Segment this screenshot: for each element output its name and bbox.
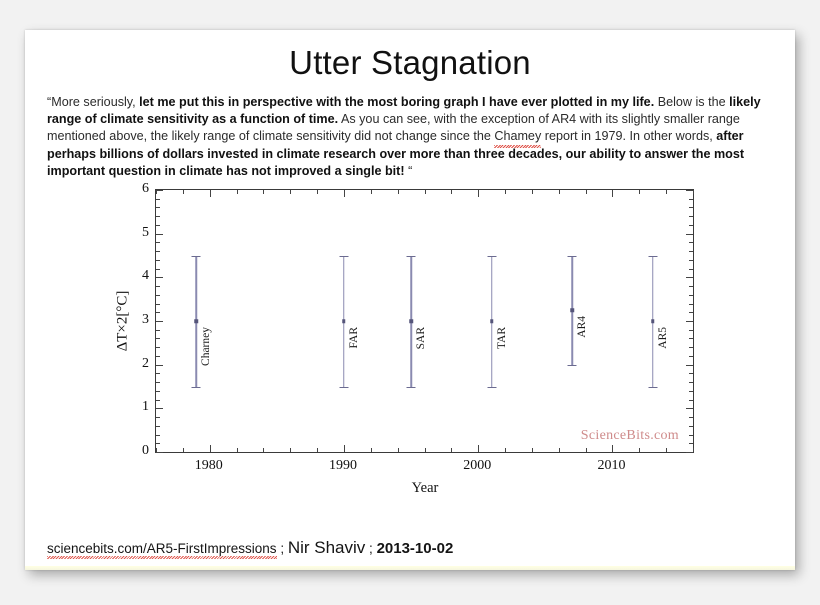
x-tick: [317, 448, 318, 452]
presentation-slide: Utter Stagnation “More seriously, let me…: [25, 30, 795, 570]
y-tick: [689, 338, 693, 339]
quote-segment-2-bold: let me put this in perspective with the …: [139, 95, 654, 109]
error-bar-label: AR4: [576, 316, 588, 338]
y-tick: [686, 277, 693, 278]
error-bar-label: Charney: [200, 327, 212, 366]
y-tick: [156, 338, 160, 339]
error-bar-cap-top: [648, 256, 657, 258]
y-tick: [689, 286, 693, 287]
y-tick: [689, 373, 693, 374]
x-tick: [156, 190, 157, 194]
y-tick: [156, 295, 160, 296]
sciencebits-watermark: ScienceBits.com: [581, 428, 679, 444]
y-tick: [686, 234, 693, 235]
y-tick: [156, 452, 163, 453]
misspelled-word: Chamey: [494, 128, 541, 145]
y-tick: [689, 199, 693, 200]
y-tick: [156, 330, 160, 331]
error-bar: FAR: [329, 190, 359, 452]
x-tick: [532, 190, 533, 194]
y-tick: [156, 408, 163, 409]
x-tick: [237, 190, 238, 194]
y-tick: [689, 391, 693, 392]
y-tick-label: 6: [127, 181, 149, 197]
x-tick: [317, 190, 318, 194]
y-tick: [156, 312, 160, 313]
y-tick-label: 5: [127, 225, 149, 241]
y-tick: [689, 225, 693, 226]
x-tick: [532, 448, 533, 452]
error-bar-cap-bottom: [407, 387, 416, 389]
x-tick-label: 1980: [195, 458, 223, 474]
y-tick: [686, 321, 693, 322]
y-tick: [689, 260, 693, 261]
error-bar: SAR: [396, 190, 426, 452]
y-tick-label: 4: [127, 268, 149, 284]
x-tick: [290, 190, 291, 194]
x-tick: [263, 448, 264, 452]
error-bar-cap-top: [339, 256, 348, 258]
y-tick: [686, 408, 693, 409]
y-tick: [156, 321, 163, 322]
y-tick: [156, 365, 163, 366]
y-tick: [689, 400, 693, 401]
y-tick: [156, 216, 160, 217]
best-estimate-marker: [409, 319, 413, 323]
y-tick: [156, 373, 160, 374]
y-tick: [689, 242, 693, 243]
caption-url[interactable]: sciencebits.com/AR5-FirstImpressions: [47, 541, 277, 556]
y-tick: [689, 382, 693, 383]
x-tick: [451, 448, 452, 452]
error-bar: AR4: [557, 190, 587, 452]
y-tick: [156, 391, 160, 392]
error-bar-cap-top: [487, 256, 496, 258]
x-axis-label: Year: [412, 480, 439, 497]
y-tick: [156, 286, 160, 287]
x-tick: [371, 448, 372, 452]
y-tick: [689, 295, 693, 296]
caption-author: Nir Shaviv: [288, 538, 365, 557]
x-tick: [290, 448, 291, 452]
source-caption: sciencebits.com/AR5-FirstImpressions ; N…: [47, 538, 453, 558]
y-tick: [689, 312, 693, 313]
best-estimate-marker: [195, 319, 199, 323]
y-tick: [156, 260, 160, 261]
y-tick-label: 1: [127, 399, 149, 415]
x-tick: [693, 448, 694, 452]
y-tick: [689, 347, 693, 348]
error-bar-label: AR5: [657, 327, 669, 349]
y-tick-label: 3: [127, 312, 149, 328]
error-bar-cap-bottom: [568, 365, 577, 367]
y-tick: [689, 435, 693, 436]
best-estimate-marker: [490, 319, 494, 323]
plot-area: CharneyFARSARTARAR4AR5 ScienceBits.com: [155, 189, 694, 453]
x-tick-label: 2000: [463, 458, 491, 474]
y-tick: [689, 443, 693, 444]
y-tick: [686, 365, 693, 366]
y-tick: [156, 190, 163, 191]
error-bar: TAR: [477, 190, 507, 452]
caption-separator-1: ;: [277, 541, 288, 556]
y-tick: [156, 225, 160, 226]
y-tick: [156, 234, 163, 235]
y-tick: [156, 242, 160, 243]
error-bar: AR5: [638, 190, 668, 452]
x-tick: [693, 190, 694, 194]
y-tick: [156, 207, 160, 208]
y-tick: [689, 426, 693, 427]
y-tick: [156, 417, 160, 418]
quote-close-mark: “: [408, 164, 412, 178]
x-tick: [263, 190, 264, 194]
error-bar-cap-top: [568, 256, 577, 258]
x-tick: [451, 190, 452, 194]
quote-segment-3: Below is the: [654, 95, 729, 109]
y-tick: [156, 347, 160, 348]
y-tick: [686, 190, 693, 191]
y-tick: [156, 304, 160, 305]
error-bar-cap-bottom: [487, 387, 496, 389]
quote-paragraph: “More seriously, let me put this in pers…: [47, 94, 773, 180]
error-bar-cap-top: [192, 256, 201, 258]
y-tick: [686, 452, 693, 453]
best-estimate-marker: [651, 319, 655, 323]
y-tick: [156, 382, 160, 383]
y-tick-label: 0: [127, 443, 149, 459]
caption-date: 2013-10-02: [377, 540, 454, 557]
quote-segment-1: More seriously,: [51, 95, 139, 109]
error-bar: Charney: [181, 190, 211, 452]
y-tick: [689, 207, 693, 208]
climate-sensitivity-chart: ΔT×2[°C] Year 01234561980199020002010 Ch…: [25, 186, 795, 516]
y-tick: [689, 251, 693, 252]
y-tick: [156, 400, 160, 401]
best-estimate-marker: [342, 319, 346, 323]
error-bar-cap-top: [407, 256, 416, 258]
y-tick: [156, 199, 160, 200]
x-tick: [371, 190, 372, 194]
y-tick: [156, 356, 160, 357]
y-tick: [156, 277, 163, 278]
page-title: Utter Stagnation: [25, 30, 795, 82]
y-tick: [689, 304, 693, 305]
y-tick: [689, 356, 693, 357]
x-tick: [156, 448, 157, 452]
x-tick: [612, 445, 613, 452]
x-tick: [237, 448, 238, 452]
y-tick: [156, 426, 160, 427]
y-tick: [689, 269, 693, 270]
error-bar-label: TAR: [496, 327, 508, 349]
y-tick-label: 2: [127, 356, 149, 372]
quote-segment-7: report in 1979. In other words,: [541, 129, 716, 143]
x-tick-label: 1990: [329, 458, 357, 474]
error-bar-cap-bottom: [192, 387, 201, 389]
y-tick: [156, 269, 160, 270]
error-bar-cap-bottom: [648, 387, 657, 389]
y-tick: [156, 435, 160, 436]
y-tick: [156, 443, 160, 444]
best-estimate-marker: [570, 308, 574, 312]
caption-separator-2: ;: [365, 541, 376, 556]
error-bar-label: FAR: [348, 327, 360, 349]
y-tick: [689, 417, 693, 418]
y-tick: [689, 330, 693, 331]
y-tick: [156, 251, 160, 252]
error-bar-cap-bottom: [339, 387, 348, 389]
x-tick-label: 2010: [597, 458, 625, 474]
error-bar-label: SAR: [415, 327, 427, 349]
y-tick: [689, 216, 693, 217]
x-tick: [612, 190, 613, 197]
